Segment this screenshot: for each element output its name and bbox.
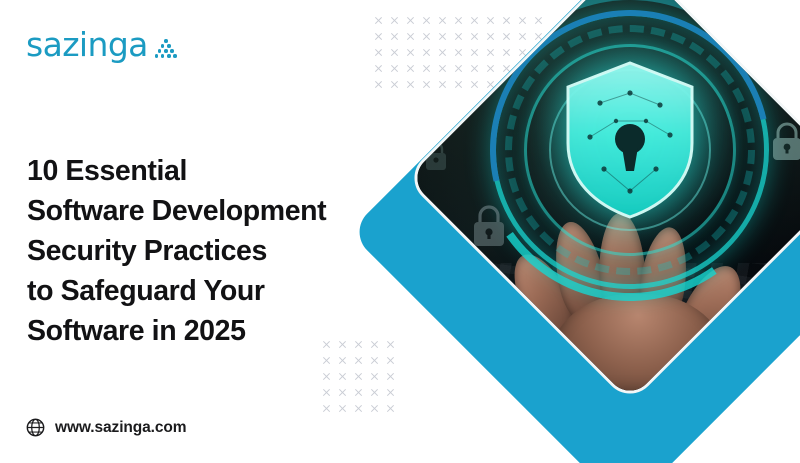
padlock-icon bbox=[767, 119, 800, 165]
page-title: 10 Essential Software Development Securi… bbox=[27, 151, 417, 351]
x-mark-icon bbox=[484, 28, 500, 44]
x-mark-icon bbox=[372, 60, 388, 76]
logo-wordmark: sazinga bbox=[26, 28, 148, 61]
padlock-icon bbox=[467, 201, 511, 251]
x-mark-icon bbox=[452, 28, 468, 44]
x-mark-icon bbox=[468, 44, 484, 60]
x-mark-icon bbox=[420, 28, 436, 44]
x-mark-icon bbox=[336, 352, 352, 368]
x-mark-icon bbox=[436, 60, 452, 76]
x-mark-icon bbox=[352, 368, 368, 384]
x-mark-icon bbox=[468, 12, 484, 28]
x-mark-icon bbox=[384, 368, 400, 384]
x-mark-icon bbox=[320, 384, 336, 400]
x-mark-icon bbox=[420, 60, 436, 76]
x-mark-icon bbox=[500, 28, 516, 44]
triangle-dots-icon bbox=[155, 39, 177, 58]
x-mark-icon bbox=[384, 400, 400, 416]
x-mark-icon bbox=[404, 60, 420, 76]
x-mark-icon bbox=[516, 12, 532, 28]
x-mark-icon bbox=[352, 400, 368, 416]
x-mark-icon bbox=[320, 400, 336, 416]
x-mark-icon bbox=[436, 44, 452, 60]
x-mark-icon bbox=[404, 76, 420, 92]
x-mark-icon bbox=[452, 12, 468, 28]
x-mark-icon bbox=[352, 352, 368, 368]
x-mark-icon bbox=[320, 368, 336, 384]
x-mark-icon bbox=[372, 12, 388, 28]
x-mark-icon bbox=[452, 76, 468, 92]
x-mark-icon bbox=[368, 400, 384, 416]
dot-row bbox=[158, 49, 174, 53]
x-mark-icon bbox=[516, 28, 532, 44]
website-url: www.sazinga.com bbox=[55, 419, 186, 437]
x-mark-icon bbox=[384, 384, 400, 400]
x-mark-icon bbox=[420, 44, 436, 60]
dot-row bbox=[155, 54, 177, 58]
marketing-banner: sazinga 10 Essential Software Developmen… bbox=[0, 0, 800, 463]
brand-logo[interactable]: sazinga bbox=[26, 28, 177, 61]
x-mark-icon bbox=[484, 12, 500, 28]
footer-website[interactable]: www.sazinga.com bbox=[26, 418, 186, 437]
padlock-icon bbox=[421, 139, 451, 173]
x-mark-icon bbox=[468, 76, 484, 92]
x-mark-icon bbox=[500, 12, 516, 28]
x-mark-icon bbox=[388, 12, 404, 28]
x-mark-icon bbox=[404, 44, 420, 60]
x-mark-icon bbox=[368, 352, 384, 368]
globe-icon bbox=[26, 418, 45, 437]
x-mark-icon bbox=[352, 384, 368, 400]
x-mark-icon bbox=[388, 76, 404, 92]
x-mark-icon bbox=[532, 12, 548, 28]
x-mark-icon bbox=[484, 44, 500, 60]
x-mark-icon bbox=[404, 12, 420, 28]
x-mark-icon bbox=[452, 60, 468, 76]
x-mark-icon bbox=[388, 60, 404, 76]
dot-row bbox=[164, 39, 168, 43]
x-mark-icon bbox=[420, 12, 436, 28]
x-mark-icon bbox=[372, 76, 388, 92]
x-mark-icon bbox=[336, 400, 352, 416]
x-mark-icon bbox=[468, 60, 484, 76]
x-mark-icon bbox=[452, 44, 468, 60]
x-mark-icon bbox=[372, 44, 388, 60]
x-mark-icon bbox=[420, 76, 436, 92]
x-mark-icon bbox=[436, 28, 452, 44]
x-mark-icon bbox=[388, 28, 404, 44]
x-mark-icon bbox=[500, 44, 516, 60]
x-mark-icon bbox=[368, 368, 384, 384]
x-mark-icon bbox=[468, 28, 484, 44]
x-mark-icon bbox=[372, 28, 388, 44]
x-mark-icon bbox=[336, 368, 352, 384]
shield-keyhole-icon bbox=[560, 59, 700, 221]
dot-row bbox=[161, 44, 171, 48]
x-mark-icon bbox=[368, 384, 384, 400]
x-mark-icon bbox=[436, 12, 452, 28]
x-mark-icon bbox=[384, 352, 400, 368]
x-mark-icon bbox=[404, 28, 420, 44]
x-mark-icon bbox=[436, 76, 452, 92]
x-mark-icon bbox=[336, 384, 352, 400]
x-mark-icon bbox=[388, 44, 404, 60]
x-mark-icon bbox=[320, 352, 336, 368]
x-mark-icon bbox=[484, 60, 500, 76]
